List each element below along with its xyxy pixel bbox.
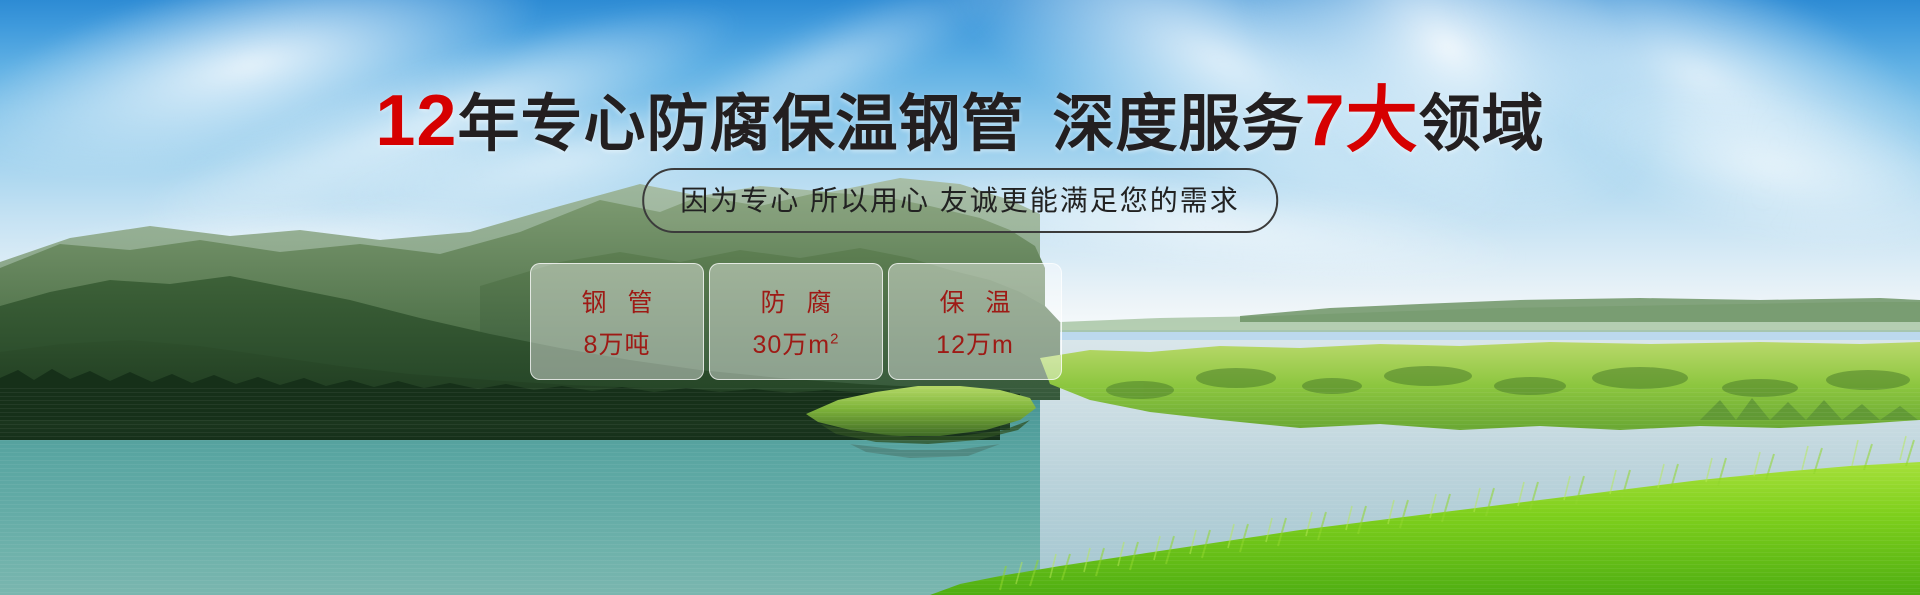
headline-fields-unit: 大 — [1346, 81, 1419, 161]
stat-value-superscript: 2 — [830, 330, 839, 347]
stats-card-group: 钢 管 8万吨 防 腐 30万m2 保 温 12万m — [530, 263, 1062, 380]
hero-banner: 12年专心防腐保温钢管深度服务7大领域 因为专心 所以用心 友诚更能满足您的需求… — [0, 0, 1920, 595]
stat-label: 钢 管 — [575, 283, 660, 319]
page-title: 12年专心防腐保温钢管深度服务7大领域 — [0, 85, 1920, 157]
headline-years-number: 12 — [375, 81, 457, 161]
headline-text-primary: 年专心防腐保温钢管 — [457, 90, 1024, 159]
stat-label: 防 腐 — [754, 283, 839, 319]
stat-card-anticorrosion[interactable]: 防 腐 30万m2 — [709, 263, 883, 380]
stat-card-insulation[interactable]: 保 温 12万m — [888, 263, 1062, 380]
headline-text-tail: 领域 — [1419, 90, 1545, 159]
stat-value: 12万m — [936, 325, 1014, 361]
stat-value-text: 12万m — [936, 331, 1014, 359]
subtitle-pill: 因为专心 所以用心 友诚更能满足您的需求 — [642, 168, 1278, 233]
stat-value-text: 8万吨 — [584, 331, 651, 359]
headline-fields-number: 7 — [1305, 81, 1346, 161]
stat-value: 30万m2 — [753, 325, 840, 361]
headline-text-secondary: 深度服务 — [1053, 90, 1305, 159]
stat-value-text: 30万m — [753, 331, 831, 359]
stat-card-steel-pipe[interactable]: 钢 管 8万吨 — [530, 263, 704, 380]
stat-value: 8万吨 — [584, 325, 651, 361]
stat-label: 保 温 — [933, 283, 1018, 319]
